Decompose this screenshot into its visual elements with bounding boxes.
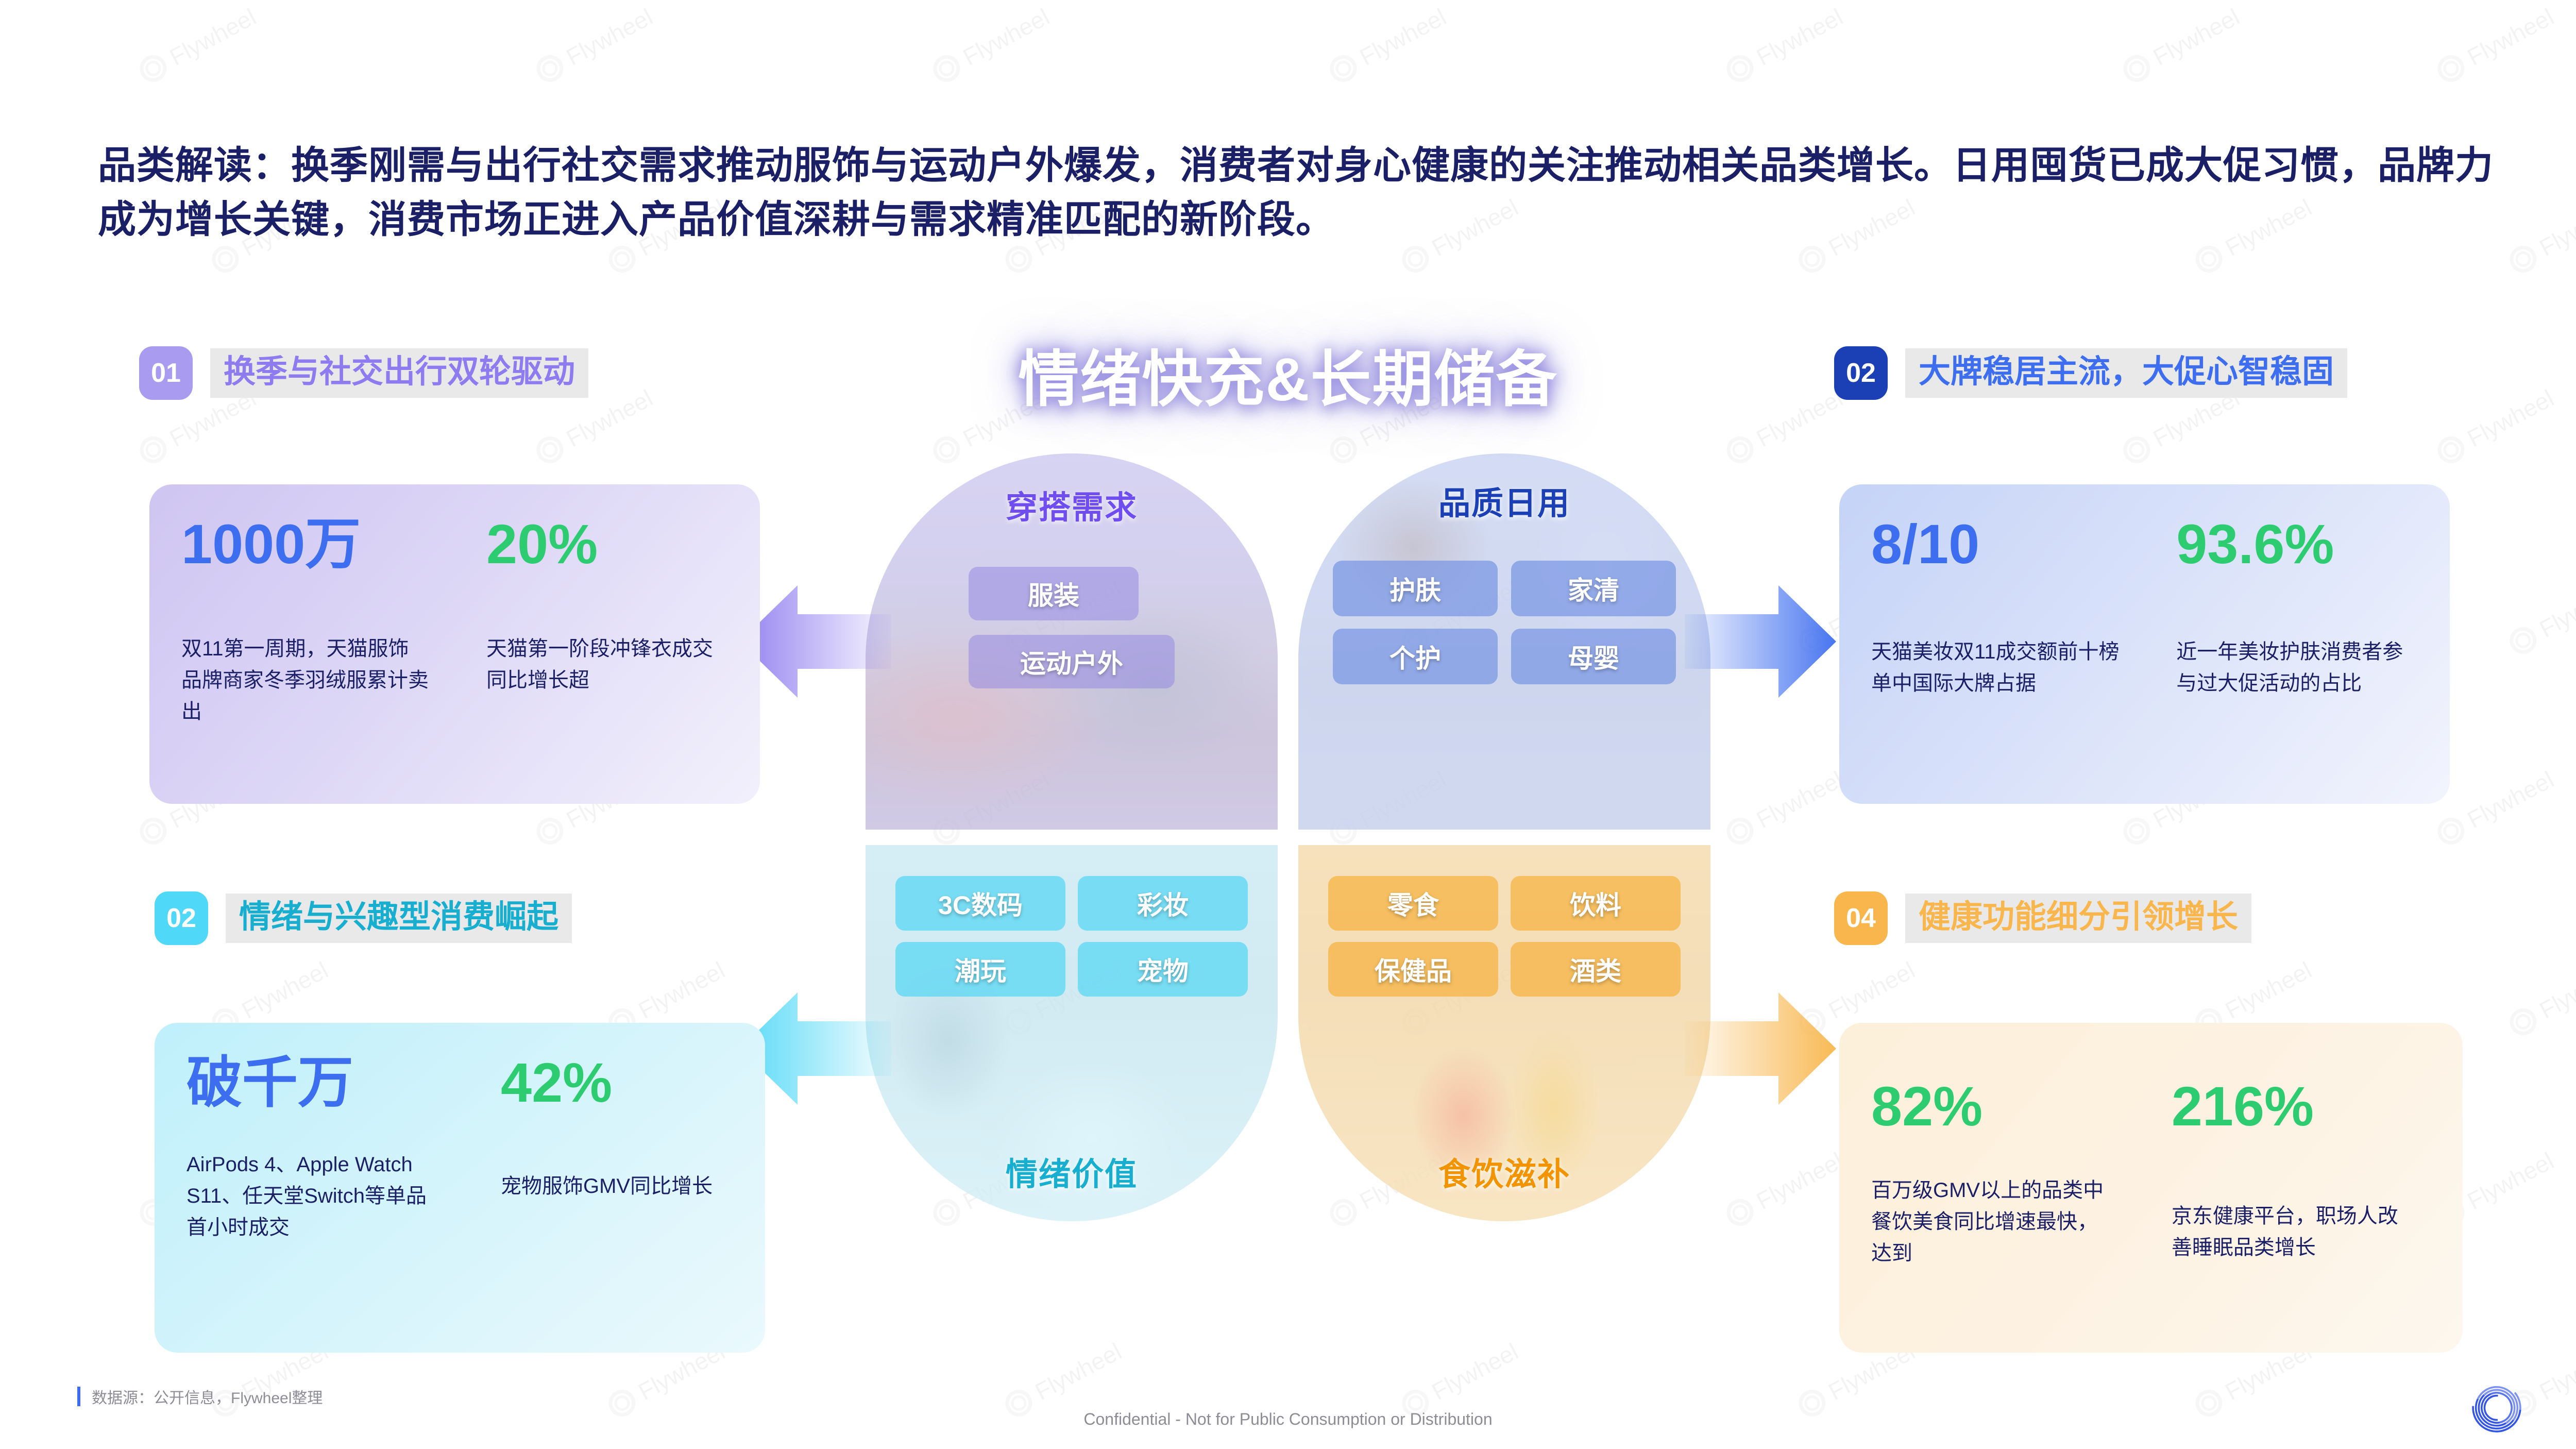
watermark: Flywheel — [2505, 193, 2576, 278]
watermark: Flywheel — [1722, 765, 1848, 850]
section-header-01[interactable]: 01 换季与社交出行双轮驱动 — [139, 346, 588, 400]
watermark-text: Flywheel — [2463, 384, 2558, 452]
watermark-text: Flywheel — [2535, 193, 2576, 262]
quadrant-tr-title: 品质日用 — [1298, 477, 1710, 524]
slide-canvas: FlywheelFlywheelFlywheelFlywheelFlywheel… — [0, 0, 2576, 1449]
stat-value: 42% — [501, 1052, 727, 1114]
watermark-text: Flywheel — [1355, 3, 1451, 71]
chip[interactable]: 家清 — [1511, 561, 1676, 616]
watermark-ring-icon — [1794, 241, 1830, 277]
watermark: Flywheel — [532, 3, 657, 87]
watermark: Flywheel — [1722, 1147, 1848, 1231]
source-note: 数据源：公开信息，Flywheel整理 — [77, 1385, 323, 1408]
watermark-text: Flywheel — [165, 3, 261, 71]
stat-value: 1000万 — [181, 513, 470, 576]
watermark-ring-icon — [1397, 241, 1433, 277]
center-title: 情绪快充&长期储备 — [845, 330, 1731, 418]
section-label-01: 换季与社交出行双轮驱动 — [210, 348, 588, 398]
watermark: Flywheel — [1722, 3, 1848, 87]
quadrant-bl-chips: 3C数码 彩妆 潮玩 宠物 — [891, 876, 1252, 997]
chip[interactable]: 宠物 — [1078, 942, 1248, 997]
stat-desc: 京东健康平台，职场人改善睡眠品类增长 — [2172, 1201, 2414, 1263]
flywheel-logo — [2468, 1379, 2526, 1437]
watermark-ring-icon — [2505, 241, 2541, 277]
watermark-text: Flywheel — [2221, 956, 2316, 1024]
watermark-text: Flywheel — [2148, 3, 2244, 71]
section-number-badge-01: 01 — [139, 346, 193, 400]
chip[interactable]: 零食 — [1328, 876, 1498, 931]
watermark-text: Flywheel — [1752, 384, 1848, 452]
stat-desc: 宠物服饰GMV同比增长 — [501, 1171, 717, 1202]
watermark-ring-icon — [2433, 432, 2469, 468]
section-number-badge-04: 04 — [1834, 891, 1888, 945]
watermark: Flywheel — [2433, 765, 2558, 850]
section-label-04: 健康功能细分引领增长 — [1905, 894, 2251, 943]
watermark-text: Flywheel — [1752, 3, 1848, 71]
stat-value: 破千万 — [187, 1052, 480, 1114]
watermark-ring-icon — [1722, 1194, 1758, 1231]
quadrant-tr-chips: 护肤 家清 个护 母婴 — [1327, 561, 1682, 684]
watermark-ring-icon — [207, 241, 243, 277]
watermark-text: Flywheel — [958, 3, 1054, 71]
watermark-text: Flywheel — [1427, 1337, 1523, 1406]
watermark-ring-icon — [2505, 1004, 2541, 1040]
chip[interactable]: 彩妆 — [1078, 876, 1248, 931]
chip[interactable]: 饮料 — [1511, 876, 1681, 931]
watermark-ring-icon — [2433, 813, 2469, 849]
watermark-text: Flywheel — [2535, 1337, 2576, 1406]
quadrant-tl-chips: 服装 运动户外 — [866, 567, 1278, 688]
watermark-text: Flywheel — [2463, 765, 2558, 834]
watermark-ring-icon — [1325, 50, 1361, 87]
watermark-ring-icon — [135, 432, 171, 468]
watermark-ring-icon — [532, 432, 568, 468]
watermark-text: Flywheel — [562, 3, 657, 71]
quadrant-tr[interactable]: 品质日用 护肤 家清 个护 母婴 — [1298, 453, 1710, 830]
watermark: Flywheel — [2119, 3, 2244, 87]
section-number-badge-02-right: 02 — [1834, 346, 1888, 400]
section-number-badge-02-left: 02 — [155, 891, 208, 945]
stat-desc: 百万级GMV以上的品类中餐饮美食同比增速最快，达到 — [1871, 1175, 2113, 1269]
quadrant-br-chips: 零食 饮料 保健品 酒类 — [1324, 876, 1685, 997]
watermark-ring-icon — [928, 50, 964, 87]
chip[interactable]: 保健品 — [1328, 942, 1498, 997]
page-title: 品类解读：换季刚需与出行社交需求推动服饰与运动户外爆发，消费者对身心健康的关注推… — [98, 138, 2494, 246]
watermark: Flywheel — [1397, 1337, 1523, 1422]
quadrant-br-title: 食饮滋补 — [1298, 1148, 1710, 1194]
watermark-ring-icon — [2505, 622, 2541, 659]
category-quadrant-diagram: 穿搭需求 服装 运动户外 品质日用 护肤 家清 个护 母婴 3C数码 — [866, 453, 1710, 1247]
arrow-right-top — [1685, 582, 1839, 703]
watermark: Flywheel — [1325, 3, 1451, 87]
stat-desc: 近一年美妆护肤消费者参与过大促活动的占比 — [2176, 636, 2418, 699]
confidential-notice: Confidential - Not for Public Consumptio… — [0, 1410, 2576, 1429]
stat-card-04: 82% 百万级GMV以上的品类中餐饮美食同比增速最快，达到 216% 京东健康平… — [1839, 1023, 2463, 1353]
watermark: Flywheel — [1001, 1337, 1126, 1422]
chip[interactable]: 3C数码 — [895, 876, 1065, 931]
watermark-text: Flywheel — [2463, 1147, 2558, 1215]
watermark-text: Flywheel — [2535, 956, 2576, 1024]
watermark-ring-icon — [2433, 50, 2469, 87]
section-header-02-left[interactable]: 02 情绪与兴趣型消费崛起 — [155, 891, 572, 945]
stat-desc: AirPods 4、Apple Watch S11、任天堂Switch等单品首小… — [187, 1149, 444, 1243]
watermark-ring-icon — [532, 50, 568, 87]
source-accent-bar — [77, 1387, 80, 1406]
stat-card-01: 1000万 双11第一周期，天猫服饰品牌商家冬季羽绒服累计卖出 20% 天猫第一… — [149, 484, 760, 804]
section-label-02-right: 大牌稳居主流，大促心智稳固 — [1905, 348, 2347, 398]
watermark-ring-icon — [1001, 241, 1037, 277]
quadrant-bl[interactable]: 3C数码 彩妆 潮玩 宠物 情绪价值 — [866, 845, 1278, 1221]
watermark: Flywheel — [135, 3, 261, 87]
section-label-02-left: 情绪与兴趣型消费崛起 — [226, 894, 572, 943]
chip[interactable]: 护肤 — [1333, 561, 1498, 616]
watermark-text: Flywheel — [1030, 1337, 1126, 1406]
watermark: Flywheel — [1722, 384, 1848, 468]
stat-desc: 天猫第一阶段冲锋衣成交同比增长超 — [486, 633, 728, 696]
chip[interactable]: 潮玩 — [895, 942, 1065, 997]
watermark: Flywheel — [2505, 575, 2576, 659]
watermark-text: Flywheel — [2535, 575, 2576, 643]
stat-card-02-left: 破千万 AirPods 4、Apple Watch S11、任天堂Switch等… — [155, 1023, 765, 1353]
section-header-04[interactable]: 04 健康功能细分引领增长 — [1834, 891, 2251, 945]
stat-desc: 天猫美妆双11成交额前十榜单中国际大牌占据 — [1871, 636, 2134, 699]
watermark-text: Flywheel — [1752, 765, 1848, 834]
watermark: Flywheel — [2505, 956, 2576, 1040]
stat-value: 20% — [486, 513, 727, 576]
stat-card-02-right: 8/10 天猫美妆双11成交额前十榜单中国际大牌占据 93.6% 近一年美妆护肤… — [1839, 484, 2450, 804]
chip[interactable]: 服装 — [969, 567, 1139, 620]
watermark-ring-icon — [532, 813, 568, 849]
quadrant-br[interactable]: 零食 饮料 保健品 酒类 食饮滋补 — [1298, 845, 1710, 1221]
quadrant-tl-title: 穿搭需求 — [866, 481, 1278, 528]
watermark-ring-icon — [1722, 50, 1758, 87]
watermark-text: Flywheel — [237, 956, 333, 1024]
chip[interactable]: 运动户外 — [969, 635, 1175, 688]
watermark-ring-icon — [2119, 50, 2155, 87]
watermark: Flywheel — [928, 3, 1054, 87]
quadrant-tl[interactable]: 穿搭需求 服装 运动户外 — [866, 453, 1278, 830]
watermark-ring-icon — [135, 813, 171, 849]
stat-value: 8/10 — [1871, 513, 2168, 576]
watermark-text: Flywheel — [2463, 3, 2558, 71]
stat-value: 216% — [2172, 1075, 2432, 1138]
quadrant-bl-title: 情绪价值 — [866, 1148, 1278, 1194]
watermark: Flywheel — [2433, 384, 2558, 468]
watermark-text: Flywheel — [634, 956, 730, 1024]
watermark-ring-icon — [2119, 432, 2155, 468]
watermark-ring-icon — [135, 50, 171, 87]
chip[interactable]: 个护 — [1333, 629, 1498, 684]
watermark-ring-icon — [2191, 241, 2227, 277]
watermark: Flywheel — [2433, 3, 2558, 87]
watermark-ring-icon — [1722, 432, 1758, 468]
chip[interactable]: 酒类 — [1511, 942, 1681, 997]
source-text: 数据源：公开信息，Flywheel整理 — [92, 1385, 323, 1408]
watermark-text: Flywheel — [1752, 1147, 1848, 1215]
section-header-02-right[interactable]: 02 大牌稳居主流，大促心智稳固 — [1834, 346, 2347, 400]
chip[interactable]: 母婴 — [1511, 629, 1676, 684]
stat-value: 93.6% — [2176, 513, 2419, 576]
stat-value: 82% — [1871, 1075, 2172, 1138]
watermark-ring-icon — [2119, 813, 2155, 849]
arrow-right-bottom — [1685, 989, 1839, 1110]
arrow-left-top — [737, 582, 891, 703]
watermark-ring-icon — [604, 241, 640, 277]
watermark-ring-icon — [1722, 813, 1758, 849]
stat-desc: 双11第一周期，天猫服饰品牌商家冬季羽绒服累计卖出 — [181, 633, 429, 727]
